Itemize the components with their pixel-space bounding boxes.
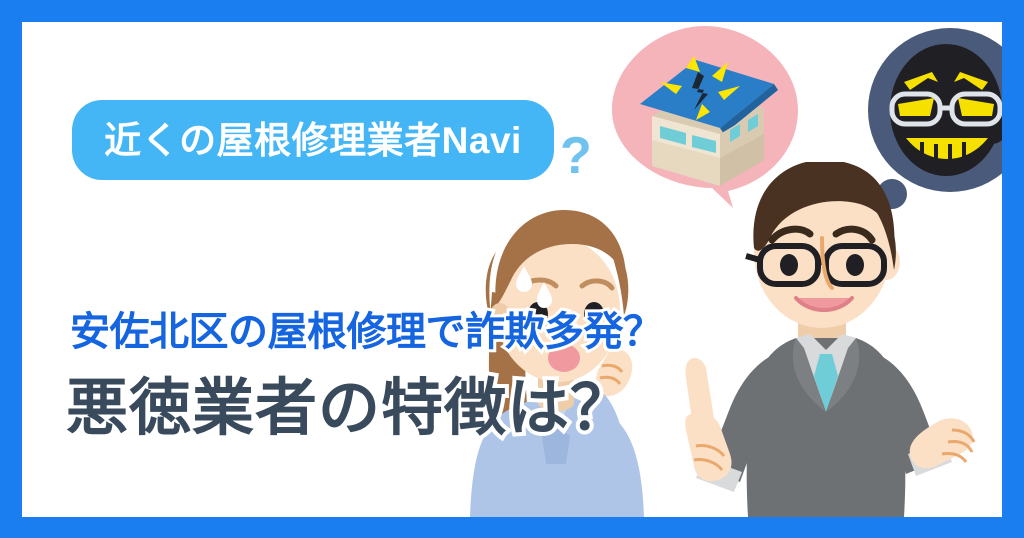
site-name-badge-label: 近くの屋根修理業者Navi: [104, 122, 522, 159]
subtitle-text: 安佐北区の屋根修理で詐欺多発？: [70, 312, 663, 352]
question-mark-decoration: ?: [560, 130, 592, 182]
pointing-businessman: [672, 162, 982, 517]
banner-root: 近くの屋根修理業者Navi ? 安佐北区の屋根修理で詐欺多発？ 悪徳業者の特徴は…: [0, 0, 1024, 538]
banner-canvas: 近くの屋根修理業者Navi ? 安佐北区の屋根修理で詐欺多発？ 悪徳業者の特徴は…: [22, 22, 1002, 517]
headline-text: 悪徳業者の特徴は？: [66, 378, 633, 440]
site-name-badge[interactable]: 近くの屋根修理業者Navi: [72, 100, 554, 180]
villain-face: [890, 44, 1002, 176]
